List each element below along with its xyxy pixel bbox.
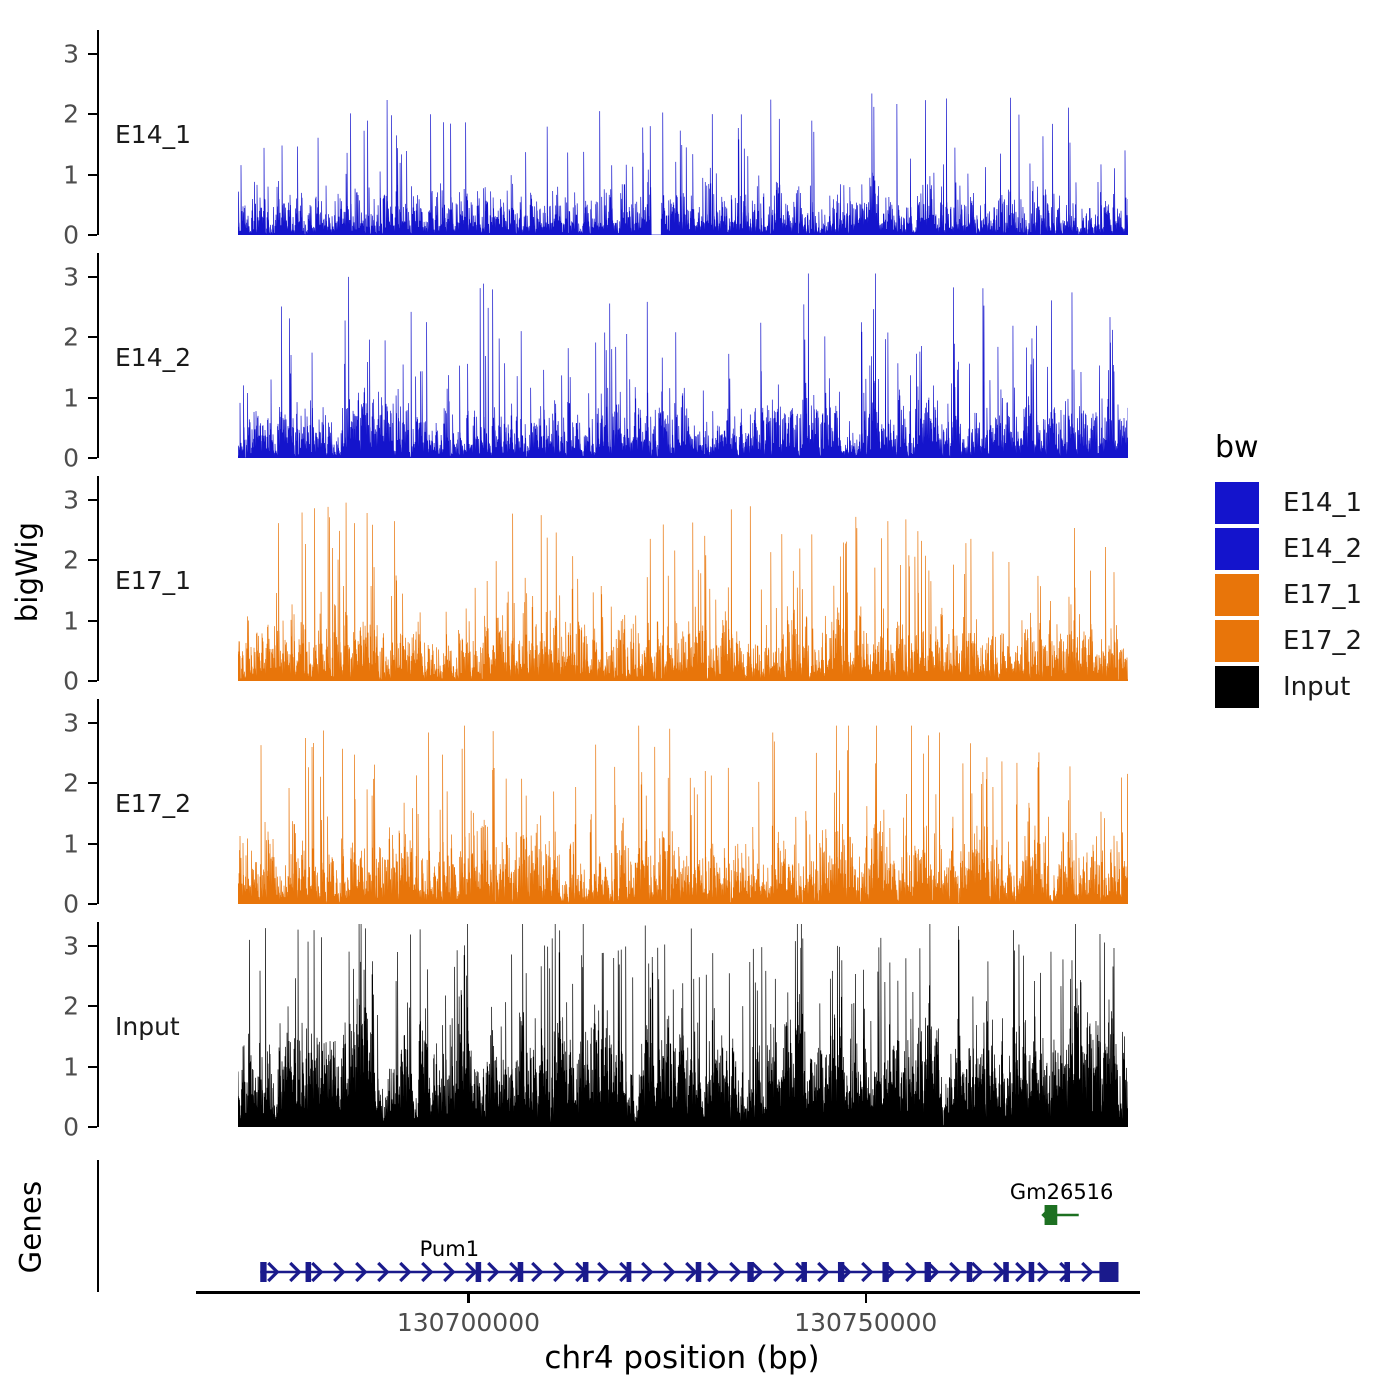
y-axis-line bbox=[97, 253, 99, 458]
y-tick bbox=[88, 336, 97, 338]
gene-exon bbox=[260, 1262, 266, 1282]
y-tick-label: 0 bbox=[39, 667, 79, 696]
y-tick bbox=[88, 499, 97, 501]
y-tick bbox=[88, 680, 97, 682]
y-tick-label: 1 bbox=[39, 160, 79, 189]
genes-panel bbox=[97, 1160, 1132, 1292]
genes-plot-area[interactable] bbox=[99, 1160, 1132, 1292]
gene-exon bbox=[1045, 1205, 1058, 1225]
y-tick bbox=[88, 843, 97, 845]
legend-label: E17_2 bbox=[1283, 626, 1362, 656]
y-tick-label: 0 bbox=[39, 444, 79, 473]
track-panel-e14_1: 0123E14_1 bbox=[97, 30, 1128, 235]
gene-exon bbox=[1099, 1262, 1118, 1282]
y-tick-label: 0 bbox=[39, 890, 79, 919]
legend-swatch bbox=[1215, 574, 1259, 616]
legend-label: E14_2 bbox=[1283, 534, 1362, 564]
y-tick bbox=[88, 457, 97, 459]
x-axis-line bbox=[196, 1291, 1140, 1294]
x-tick-label: 130700000 bbox=[397, 1308, 540, 1337]
gene-exon bbox=[1064, 1262, 1070, 1282]
y-tick bbox=[88, 234, 97, 236]
y-tick bbox=[88, 945, 97, 947]
y-tick bbox=[88, 113, 97, 115]
y-tick bbox=[88, 53, 97, 55]
y-tick-label: 1 bbox=[39, 829, 79, 858]
y-tick-label: 3 bbox=[39, 263, 79, 292]
legend-items: E14_1E14_2E17_1E17_2Input bbox=[1215, 481, 1362, 709]
coverage-area bbox=[238, 726, 1128, 904]
gene-exon bbox=[518, 1262, 524, 1282]
y-tick-label: 2 bbox=[39, 546, 79, 575]
gene-pum1[interactable] bbox=[260, 1262, 1118, 1282]
gene-label-pum1: Pum1 bbox=[420, 1237, 479, 1261]
y-axis-line bbox=[97, 699, 99, 904]
gene-exon bbox=[696, 1262, 702, 1282]
y-tick bbox=[88, 559, 97, 561]
track-panel-e14_2: 0123E14_2 bbox=[97, 253, 1128, 458]
genes-axis-title: Genes bbox=[14, 1175, 48, 1280]
legend-swatch bbox=[1215, 620, 1259, 662]
y-tick bbox=[88, 903, 97, 905]
y-tick-label: 1 bbox=[39, 1052, 79, 1081]
y-axis-line bbox=[97, 922, 99, 1127]
y-tick-label: 1 bbox=[39, 383, 79, 412]
track-panel-e17_1: 0123E17_1 bbox=[97, 476, 1128, 681]
x-axis-title: chr4 position (bp) bbox=[544, 1340, 819, 1376]
coverage-area bbox=[238, 94, 1128, 235]
track-label-e14_1: E14_1 bbox=[115, 120, 191, 149]
y-tick-label: 2 bbox=[39, 992, 79, 1021]
x-tick bbox=[467, 1293, 469, 1303]
coverage-plot-e14_1[interactable] bbox=[238, 30, 1128, 235]
y-tick bbox=[88, 1126, 97, 1128]
gene-exon bbox=[838, 1262, 844, 1282]
x-tick-label: 130750000 bbox=[794, 1308, 937, 1337]
gene-exon bbox=[925, 1262, 931, 1282]
y-tick-label: 2 bbox=[39, 100, 79, 129]
gene-exon bbox=[306, 1262, 312, 1282]
legend-label: Input bbox=[1283, 672, 1350, 702]
y-tick-label: 3 bbox=[39, 486, 79, 515]
gene-exon bbox=[627, 1262, 632, 1282]
y-tick-label: 2 bbox=[39, 769, 79, 798]
gene-exon bbox=[747, 1262, 753, 1282]
legend-swatch bbox=[1215, 528, 1259, 570]
legend-label: E17_1 bbox=[1283, 580, 1362, 610]
y-tick bbox=[88, 1066, 97, 1068]
gene-gm26516[interactable] bbox=[1044, 1205, 1079, 1225]
coverage-area bbox=[238, 274, 1128, 459]
y-axis-line bbox=[97, 30, 99, 235]
y-tick-label: 0 bbox=[39, 221, 79, 250]
y-tick bbox=[88, 174, 97, 176]
legend-swatch bbox=[1215, 482, 1259, 524]
track-panel-input: 0123Input bbox=[97, 922, 1128, 1127]
y-tick-label: 3 bbox=[39, 932, 79, 961]
gene-exon bbox=[476, 1262, 482, 1282]
track-panel-e17_2: 0123E17_2 bbox=[97, 699, 1128, 904]
coverage-plot-input[interactable] bbox=[238, 922, 1128, 1127]
gene-exon bbox=[1029, 1262, 1035, 1282]
gene-exon bbox=[882, 1262, 888, 1282]
gene-label-gm26516: Gm26516 bbox=[1010, 1180, 1114, 1204]
y-tick-label: 0 bbox=[39, 1113, 79, 1142]
coverage-area bbox=[238, 503, 1128, 681]
y-tick bbox=[88, 722, 97, 724]
legend-item-input[interactable]: Input bbox=[1215, 665, 1362, 709]
coverage-plot-e17_1[interactable] bbox=[238, 476, 1128, 681]
x-tick bbox=[865, 1293, 867, 1303]
track-label-e14_2: E14_2 bbox=[115, 343, 191, 372]
y-tick bbox=[88, 397, 97, 399]
gene-exon bbox=[801, 1262, 807, 1282]
y-tick bbox=[88, 620, 97, 622]
genome-browser-figure: bigWig Genes 0123E14_10123E14_20123E17_1… bbox=[0, 0, 1400, 1400]
legend-item-e17_1[interactable]: E17_1 bbox=[1215, 573, 1362, 617]
coverage-area bbox=[238, 924, 1128, 1127]
track-label-e17_1: E17_1 bbox=[115, 566, 191, 595]
legend-item-e17_2[interactable]: E17_2 bbox=[1215, 619, 1362, 663]
y-tick bbox=[88, 276, 97, 278]
y-tick bbox=[88, 782, 97, 784]
coverage-plot-e14_2[interactable] bbox=[238, 253, 1128, 458]
coverage-plot-e17_2[interactable] bbox=[238, 699, 1128, 904]
legend-label: E14_1 bbox=[1283, 488, 1362, 518]
y-tick-label: 3 bbox=[39, 40, 79, 69]
gene-exon bbox=[583, 1262, 589, 1282]
gene-exon bbox=[1003, 1262, 1009, 1282]
y-axis-line bbox=[97, 476, 99, 681]
legend-item-e14_2[interactable]: E14_2 bbox=[1215, 527, 1362, 571]
track-label-e17_2: E17_2 bbox=[115, 789, 191, 818]
track-label-input: Input bbox=[115, 1012, 180, 1041]
legend: bw E14_1E14_2E17_1E17_2Input bbox=[1215, 430, 1362, 711]
legend-title: bw bbox=[1215, 430, 1362, 465]
y-tick-label: 1 bbox=[39, 606, 79, 635]
y-tick-label: 2 bbox=[39, 323, 79, 352]
legend-item-e14_1[interactable]: E14_1 bbox=[1215, 481, 1362, 525]
y-tick-label: 3 bbox=[39, 709, 79, 738]
y-tick bbox=[88, 1005, 97, 1007]
gene-exon bbox=[967, 1262, 973, 1282]
legend-swatch bbox=[1215, 666, 1259, 708]
